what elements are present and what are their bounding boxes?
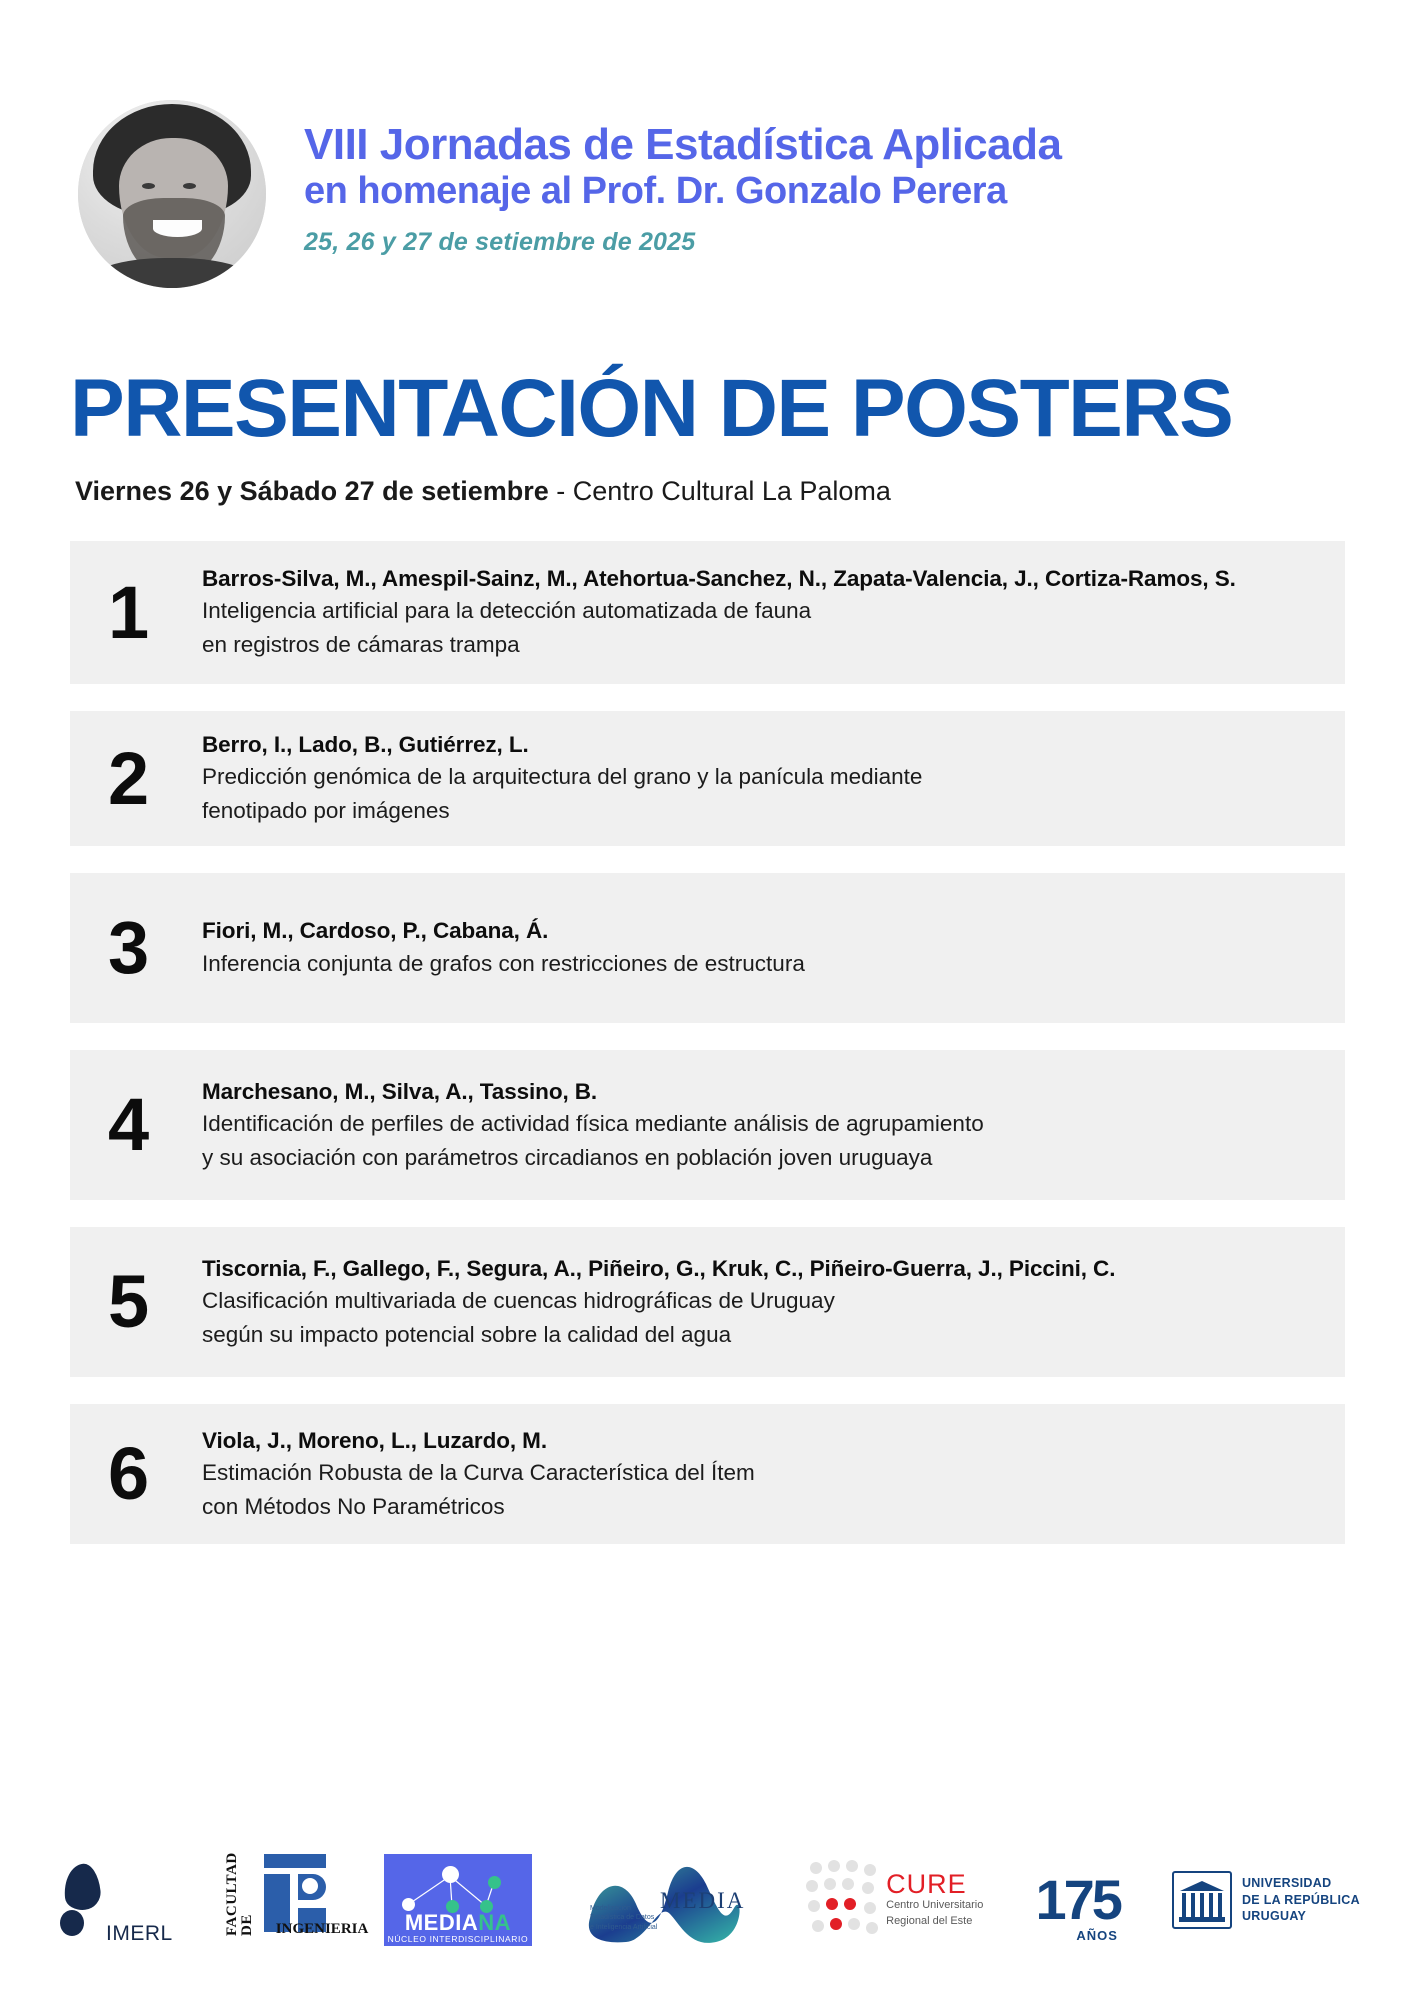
poster-item-6[interactable]: 6 Viola, J., Moreno, L., Luzardo, M. Est… <box>70 1404 1345 1544</box>
udelar-line1: UNIVERSIDAD <box>1242 1875 1360 1892</box>
poster-page: VIII Jornadas de Estadística Aplicada en… <box>0 0 1414 2000</box>
page-title: PRESENTACIÓN DE POSTERS <box>70 368 1232 450</box>
imerl-mark-icon <box>60 1864 102 1936</box>
mediana-word-green: NA <box>478 1910 511 1935</box>
poster-title-line2: y su asociación con parámetros circadian… <box>202 1143 1319 1174</box>
cure-text: CURE Centro Universitario Regional del E… <box>886 1871 983 1930</box>
poster-item-4[interactable]: 4 Marchesano, M., Silva, A., Tassino, B.… <box>70 1050 1345 1200</box>
imerl-logo: IMERL <box>60 1850 173 1950</box>
mediana-logo: MEDIANA NÚCLEO INTERDISCIPLINARIO <box>384 1854 532 1946</box>
mediana-wordmark: MEDIANA <box>384 1910 532 1936</box>
media-logo: MEDIA Modelización Estadística de Datos … <box>584 1852 754 1948</box>
cure-line2: Regional del Este <box>886 1914 983 1930</box>
cure-title: CURE <box>886 1871 983 1898</box>
poster-content: Berro, I., Lado, B., Gutiérrez, L. Predi… <box>200 730 1319 827</box>
udelar-line2: DE LA REPÚBLICA <box>1242 1892 1360 1909</box>
poster-number: 6 <box>96 1437 200 1511</box>
poster-title-line2: según su impacto potencial sobre la cali… <box>202 1320 1319 1351</box>
subtitle-venue: - Centro Cultural La Paloma <box>549 476 891 506</box>
poster-title-line2: en registros de cámaras trampa <box>202 630 1319 661</box>
sponsor-logos: IMERL FACULTAD DE INGENIERIA MED <box>60 1845 1360 1955</box>
portrait-avatar <box>78 100 266 288</box>
facultad-de-label: FACULTAD DE <box>225 1850 255 1936</box>
poster-number: 2 <box>96 742 200 816</box>
mediana-subtitle: NÚCLEO INTERDISCIPLINARIO <box>384 1934 532 1944</box>
poster-authors: Marchesano, M., Silva, A., Tassino, B. <box>202 1077 1319 1106</box>
175-number: 175 <box>1035 1872 1119 1928</box>
poster-authors: Berro, I., Lado, B., Gutiérrez, L. <box>202 730 1319 759</box>
poster-title-line1: Identificación de perfiles de actividad … <box>202 1109 1319 1140</box>
poster-item-1[interactable]: 1 Barros-Silva, M., Amespil-Sainz, M., A… <box>70 541 1345 684</box>
poster-title-line1: Clasificación multivariada de cuencas hi… <box>202 1286 1319 1317</box>
poster-number: 5 <box>96 1265 200 1339</box>
poster-authors: Viola, J., Moreno, L., Luzardo, M. <box>202 1426 1319 1455</box>
poster-number: 4 <box>96 1088 200 1162</box>
media-wordmark: MEDIA <box>660 1888 745 1914</box>
poster-content: Barros-Silva, M., Amespil-Sainz, M., Ate… <box>200 564 1319 661</box>
poster-title-line2: fenotipado por imágenes <box>202 796 1319 827</box>
poster-item-3[interactable]: 3 Fiori, M., Cardoso, P., Cabana, Á. Inf… <box>70 873 1345 1023</box>
media-subtitle: Modelización Estadística de Datos e Inte… <box>590 1904 658 1932</box>
event-header: VIII Jornadas de Estadística Aplicada en… <box>78 100 1338 288</box>
cure-logo: CURE Centro Universitario Regional del E… <box>806 1850 983 1950</box>
event-title-line1: VIII Jornadas de Estadística Aplicada <box>304 122 1062 168</box>
poster-title-line1: Estimación Robusta de la Curva Caracterí… <box>202 1458 1319 1489</box>
event-dates: 25, 26 y 27 de setiembre de 2025 <box>304 228 1062 257</box>
imerl-logo-text: IMERL <box>106 1922 173 1950</box>
event-header-text: VIII Jornadas de Estadística Aplicada en… <box>304 100 1062 257</box>
udelar-logo: UNIVERSIDAD DE LA REPÚBLICA URUGUAY <box>1172 1850 1360 1950</box>
poster-authors: Tiscornia, F., Gallego, F., Segura, A., … <box>202 1254 1319 1283</box>
poster-list: 1 Barros-Silva, M., Amespil-Sainz, M., A… <box>70 541 1345 1571</box>
cure-line1: Centro Universitario <box>886 1898 983 1914</box>
fing-mark-icon: INGENIERIA <box>258 1850 332 1936</box>
poster-title-line1: Predicción genómica de la arquitectura d… <box>202 762 1319 793</box>
poster-content: Viola, J., Moreno, L., Luzardo, M. Estim… <box>200 1426 1319 1523</box>
175-anios-label: AÑOS <box>1076 1929 1118 1942</box>
poster-authors: Fiori, M., Cardoso, P., Cabana, Á. <box>202 916 1319 945</box>
poster-title-line2: con Métodos No Paramétricos <box>202 1492 1319 1523</box>
poster-authors: Barros-Silva, M., Amespil-Sainz, M., Ate… <box>202 564 1319 593</box>
poster-content: Fiori, M., Cardoso, P., Cabana, Á. Infer… <box>200 916 1319 979</box>
event-title-line2: en homenaje al Prof. Dr. Gonzalo Perera <box>304 172 1062 212</box>
udelar-text: UNIVERSIDAD DE LA REPÚBLICA URUGUAY <box>1242 1875 1360 1925</box>
poster-item-5[interactable]: 5 Tiscornia, F., Gallego, F., Segura, A.… <box>70 1227 1345 1377</box>
poster-title-line1: Inteligencia artificial para la detecció… <box>202 596 1319 627</box>
poster-content: Tiscornia, F., Gallego, F., Segura, A., … <box>200 1254 1319 1351</box>
poster-item-2[interactable]: 2 Berro, I., Lado, B., Gutiérrez, L. Pre… <box>70 711 1345 846</box>
subtitle-dates: Viernes 26 y Sábado 27 de setiembre <box>75 476 549 506</box>
cure-dots-icon <box>806 1858 878 1942</box>
poster-number: 1 <box>96 576 200 650</box>
page-subtitle: Viernes 26 y Sábado 27 de setiembre - Ce… <box>75 476 891 507</box>
udelar-line3: URUGUAY <box>1242 1908 1360 1925</box>
aniversario-175-logo: 175 AÑOS <box>1035 1850 1119 1950</box>
mediana-word-white: MEDIA <box>405 1910 478 1935</box>
udelar-crest-icon <box>1172 1871 1232 1929</box>
poster-number: 3 <box>96 911 200 985</box>
ingenieria-label: INGENIERIA <box>276 1921 369 1938</box>
poster-title-line1: Inferencia conjunta de grafos con restri… <box>202 949 1319 980</box>
poster-content: Marchesano, M., Silva, A., Tassino, B. I… <box>200 1077 1319 1174</box>
facultad-ingenieria-logo: FACULTAD DE INGENIERIA <box>225 1850 332 1950</box>
